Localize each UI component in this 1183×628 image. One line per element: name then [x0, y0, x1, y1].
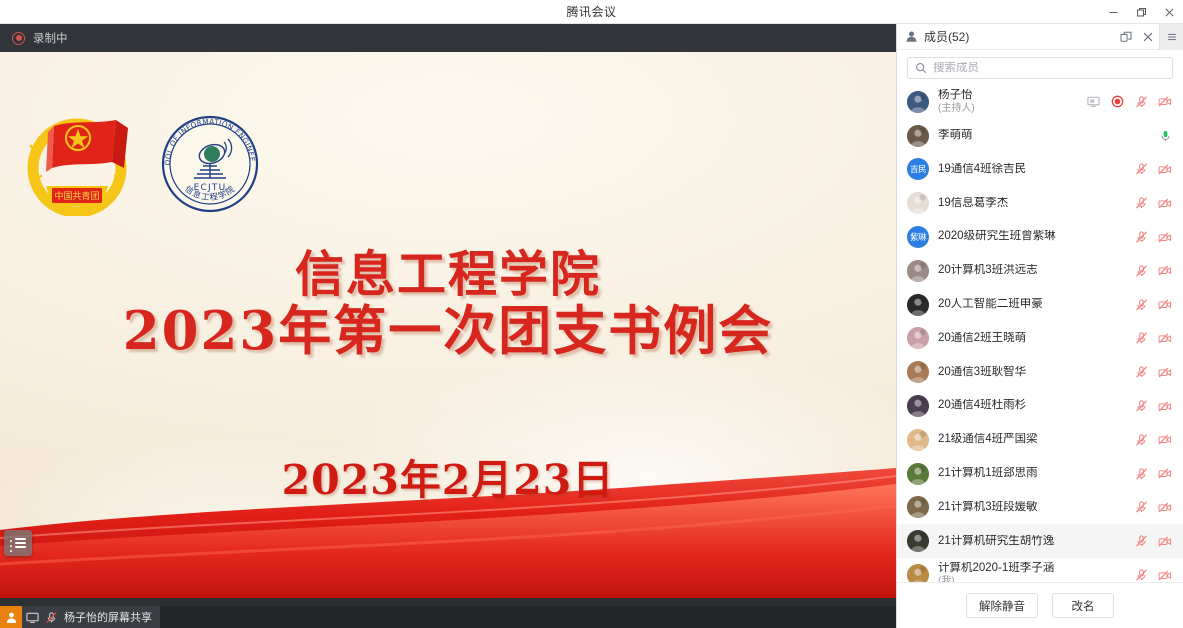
member-status-icons — [1134, 264, 1172, 278]
monitor-icon — [26, 611, 39, 624]
member-status-icons — [1134, 500, 1172, 514]
member-row[interactable]: 21计算机1班郐思雨 — [897, 457, 1183, 491]
member-status-icons — [1134, 399, 1172, 413]
avatar — [907, 564, 929, 582]
mic-muted-icon[interactable] — [1134, 568, 1148, 582]
mic-muted-icon[interactable] — [1134, 162, 1148, 176]
avatar — [907, 496, 929, 518]
unmute-button[interactable]: 解除静音 — [966, 593, 1038, 618]
members-list[interactable]: 杨子怡 (主持人) — [897, 85, 1183, 582]
member-status-icons — [1134, 298, 1172, 312]
recording-icon[interactable] — [1110, 95, 1124, 109]
mic-muted-icon[interactable] — [1134, 433, 1148, 447]
camera-off-icon[interactable] — [1158, 399, 1172, 413]
mic-muted-icon[interactable] — [1134, 534, 1148, 548]
member-status-icons — [1158, 129, 1172, 143]
member-status-icons — [1134, 467, 1172, 481]
member-row[interactable]: 紫琳 2020级研究生班曾紫琳 — [897, 220, 1183, 254]
member-name-block: 20通信3班耿智华 — [938, 366, 1125, 379]
person-icon — [905, 30, 918, 43]
members-panel-header: 成员(52) — [897, 24, 1183, 50]
camera-off-icon[interactable] — [1158, 298, 1172, 312]
search-box[interactable] — [907, 57, 1173, 79]
member-name-block: 计算机2020-1班李子涵 (我) — [938, 562, 1125, 582]
slide-date: 2023年2月23日 — [0, 446, 896, 506]
camera-off-icon[interactable] — [1158, 230, 1172, 244]
member-status-icons — [1134, 365, 1172, 379]
mic-muted-icon — [45, 611, 58, 624]
member-status-icons — [1134, 433, 1172, 447]
mic-muted-icon[interactable] — [1134, 298, 1148, 312]
member-status-icons — [1086, 95, 1172, 109]
member-row[interactable]: 20通信2班王晓萌 — [897, 322, 1183, 356]
member-name: 20人工智能二班申豪 — [938, 298, 1125, 311]
mic-muted-icon[interactable] — [1134, 196, 1148, 210]
popout-panel-button[interactable] — [1115, 24, 1137, 50]
bullet-dots-icon — [10, 537, 12, 555]
recording-indicator-icon — [12, 32, 25, 45]
camera-off-icon[interactable] — [1158, 534, 1172, 548]
avatar: 紫琳 — [907, 226, 929, 248]
avatar — [907, 327, 929, 349]
ecjtu-school-of-information-engineering-logo-icon: SCHOOL OF INFORMATION ENGINEERING 信息工程学院 — [160, 114, 260, 214]
camera-off-icon[interactable] — [1158, 162, 1172, 176]
maximize-restore-button[interactable] — [1127, 0, 1155, 24]
slide-title: 信息工程学院 2023年第一次团支书例会 — [0, 247, 896, 361]
member-status-icons — [1134, 568, 1172, 582]
member-name: 20通信2班王晓萌 — [938, 332, 1125, 345]
minimize-button[interactable] — [1099, 0, 1127, 24]
member-name-block: 21级通信4班严国梁 — [938, 433, 1125, 446]
search-input[interactable] — [933, 62, 1165, 74]
members-panel-actions — [1115, 24, 1183, 50]
member-name: 2020级研究生班曾紫琳 — [938, 230, 1125, 243]
member-name: 李萌萌 — [938, 129, 1149, 142]
avatar — [907, 530, 929, 552]
app-title: 腾讯会议 — [566, 3, 616, 20]
member-name: 杨子怡 — [938, 89, 1077, 102]
member-row[interactable]: 吉民 19通信4班徐吉民 — [897, 153, 1183, 187]
member-row[interactable]: 19信息葛李杰 — [897, 186, 1183, 220]
camera-off-icon[interactable] — [1158, 500, 1172, 514]
member-name: 21计算机3班段媛敏 — [938, 501, 1125, 514]
member-name: 计算机2020-1班李子涵 — [938, 562, 1125, 575]
member-name-block: 20人工智能二班申豪 — [938, 298, 1125, 311]
shared-screen-stage: 录制中 — [0, 24, 896, 628]
camera-off-icon[interactable] — [1158, 264, 1172, 278]
member-name-block: 19通信4班徐吉民 — [938, 163, 1125, 176]
slide-title-line1: 信息工程学院 — [0, 247, 896, 302]
member-name-block: 20计算机3班洪远志 — [938, 264, 1125, 277]
members-count-title: 成员(52) — [924, 28, 969, 45]
member-row[interactable]: 20通信4班杜雨杉 — [897, 389, 1183, 423]
tencent-meeting-window: 腾讯会议 录制中 — [0, 0, 1183, 628]
panel-menu-button[interactable] — [1159, 24, 1183, 50]
camera-off-icon[interactable] — [1158, 95, 1172, 109]
member-name-block: 杨子怡 (主持人) — [938, 89, 1077, 114]
mic-muted-icon[interactable] — [1134, 95, 1148, 109]
mic-muted-icon[interactable] — [1134, 500, 1148, 514]
member-status-icons — [1134, 534, 1172, 548]
slide-logos: 中国共青团 SCHOOL O — [16, 112, 260, 216]
popout-icon — [1120, 31, 1132, 43]
member-row[interactable]: 20通信3班耿智华 — [897, 355, 1183, 389]
mic-muted-icon[interactable] — [1134, 264, 1148, 278]
member-role: (我) — [938, 576, 1125, 582]
member-row[interactable]: 20计算机3班洪远志 — [897, 254, 1183, 288]
member-row[interactable]: 李萌萌 — [897, 119, 1183, 153]
avatar — [907, 429, 929, 451]
slide-menu-button[interactable] — [4, 530, 32, 556]
member-status-icons — [1134, 196, 1172, 210]
member-row[interactable]: 计算机2020-1班李子涵 (我) — [897, 558, 1183, 582]
taskbar-user-icon[interactable] — [0, 606, 22, 628]
mic-muted-icon[interactable] — [1134, 399, 1148, 413]
avatar — [907, 463, 929, 485]
member-name: 20通信3班耿智华 — [938, 366, 1125, 379]
avatar — [907, 91, 929, 113]
svg-text:ECJTU: ECJTU — [194, 183, 227, 193]
member-row[interactable]: 21级通信4班严国梁 — [897, 423, 1183, 457]
close-button[interactable] — [1155, 0, 1183, 24]
camera-off-icon[interactable] — [1158, 196, 1172, 210]
hamburger-menu-icon — [1166, 31, 1178, 43]
member-name: 20通信4班杜雨杉 — [938, 399, 1125, 412]
mic-muted-icon[interactable] — [1134, 467, 1148, 481]
svg-text:中国共青团: 中国共青团 — [54, 190, 99, 202]
member-name-block: 21计算机研究生胡竹逸 — [938, 535, 1125, 548]
camera-off-icon[interactable] — [1158, 467, 1172, 481]
member-row[interactable]: 21计算机研究生胡竹逸 — [897, 524, 1183, 558]
avatar — [907, 395, 929, 417]
avatar — [907, 294, 929, 316]
avatar — [907, 260, 929, 282]
camera-off-icon[interactable] — [1158, 568, 1172, 582]
share-screen-icon[interactable] — [1086, 95, 1100, 109]
recording-bar: 录制中 — [0, 24, 896, 52]
mic-active-icon[interactable] — [1158, 129, 1172, 143]
list-lines-icon — [11, 536, 26, 550]
member-name: 19通信4班徐吉民 — [938, 163, 1125, 176]
member-name-block: 2020级研究生班曾紫琳 — [938, 230, 1125, 243]
window-titlebar: 腾讯会议 — [0, 0, 1183, 24]
camera-off-icon[interactable] — [1158, 433, 1172, 447]
member-name: 19信息葛李杰 — [938, 197, 1125, 210]
mic-muted-icon[interactable] — [1134, 230, 1148, 244]
taskbar-screen-share-item[interactable]: 杨子怡的屏幕共享 — [22, 606, 160, 628]
recording-label: 录制中 — [33, 30, 68, 46]
member-name-block: 20通信4班杜雨杉 — [938, 399, 1125, 412]
members-panel-footer: 解除静音 改名 — [897, 582, 1183, 628]
search-container — [897, 50, 1183, 85]
member-name-block: 21计算机1班郐思雨 — [938, 467, 1125, 480]
member-name: 20计算机3班洪远志 — [938, 264, 1125, 277]
members-panel: 成员(52) — [896, 24, 1183, 628]
avatar: 吉民 — [907, 158, 929, 180]
mic-muted-icon[interactable] — [1134, 331, 1148, 345]
member-role: (主持人) — [938, 103, 1077, 115]
member-name: 21计算机研究生胡竹逸 — [938, 535, 1125, 548]
avatar — [907, 192, 929, 214]
rename-button[interactable]: 改名 — [1052, 593, 1114, 618]
avatar — [907, 361, 929, 383]
member-name-block: 李萌萌 — [938, 129, 1149, 142]
member-row[interactable]: 21计算机3班段媛敏 — [897, 491, 1183, 525]
member-status-icons — [1134, 331, 1172, 345]
presentation-slide: 中国共青团 SCHOOL O — [0, 52, 896, 598]
close-icon — [1142, 31, 1154, 43]
member-name-block: 19信息葛李杰 — [938, 197, 1125, 210]
member-row[interactable]: 20人工智能二班申豪 — [897, 288, 1183, 322]
member-name: 21计算机1班郐思雨 — [938, 467, 1125, 480]
member-name-block: 20通信2班王晓萌 — [938, 332, 1125, 345]
slide-title-line2: 2023年第一次团支书例会 — [0, 302, 896, 361]
window-controls — [1099, 0, 1183, 24]
camera-off-icon[interactable] — [1158, 365, 1172, 379]
member-name: 21级通信4班严国梁 — [938, 433, 1125, 446]
taskbar-share-label: 杨子怡的屏幕共享 — [64, 609, 152, 625]
search-icon — [915, 62, 927, 74]
camera-off-icon[interactable] — [1158, 331, 1172, 345]
mic-muted-icon[interactable] — [1134, 365, 1148, 379]
member-row[interactable]: 杨子怡 (主持人) — [897, 85, 1183, 119]
member-name-block: 21计算机3班段媛敏 — [938, 501, 1125, 514]
communist-youth-league-emblem-icon: 中国共青团 — [16, 112, 138, 216]
member-status-icons — [1134, 230, 1172, 244]
os-taskbar: 杨子怡的屏幕共享 — [0, 606, 896, 628]
member-status-icons — [1134, 162, 1172, 176]
close-panel-button[interactable] — [1137, 24, 1159, 50]
avatar — [907, 125, 929, 147]
